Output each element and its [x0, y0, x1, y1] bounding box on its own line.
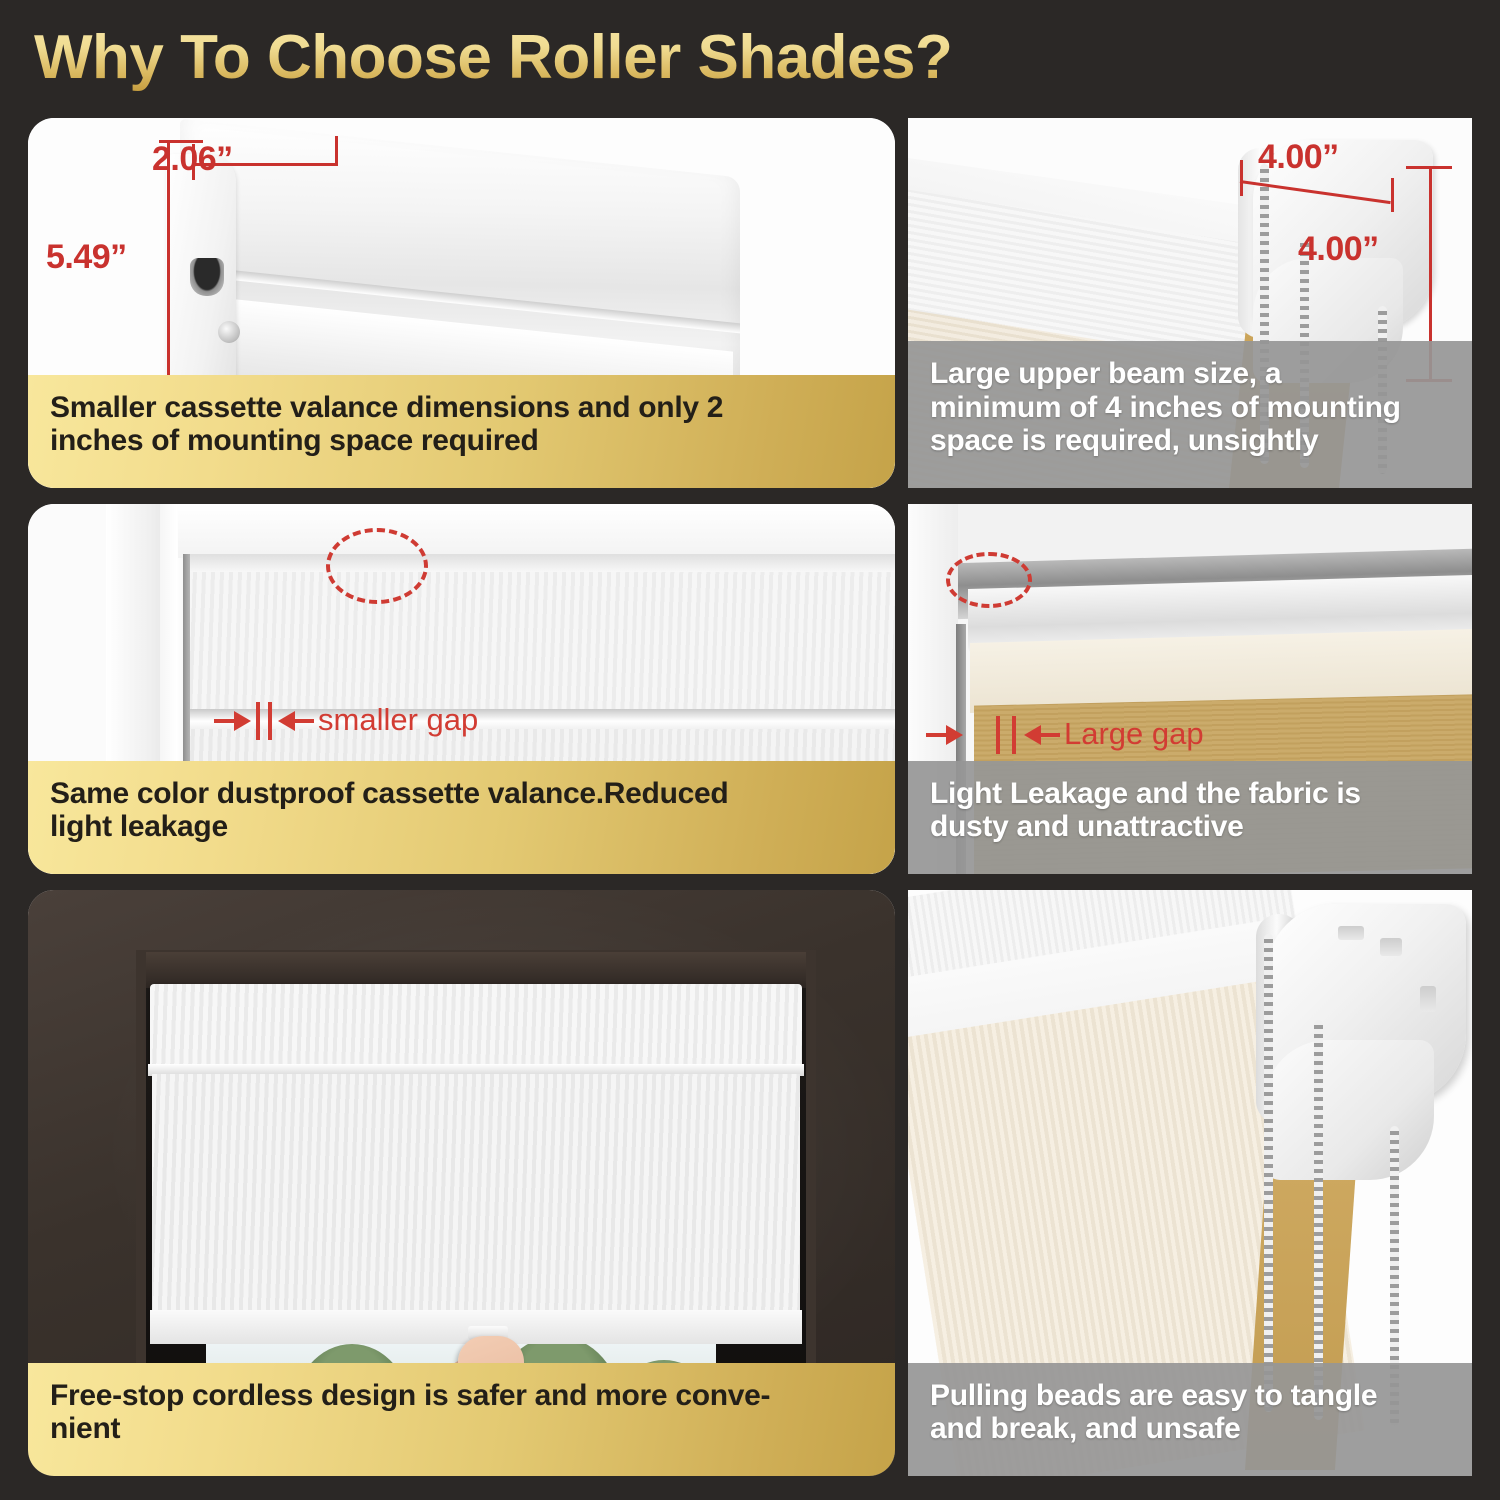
caption-line-1: Same color dustproof cassette valance.Re… — [50, 777, 873, 811]
caption-line-2: nient — [50, 1412, 873, 1446]
page-title: Why To Choose Roller Shades? — [34, 22, 952, 93]
gap-arrow-tail-right — [1040, 733, 1060, 737]
gap-arrow-tail-left — [214, 719, 236, 723]
beam-width-tick-left — [1240, 160, 1243, 196]
height-dimension-tick-top — [159, 140, 203, 143]
beam-width-label: 4.00” — [1258, 138, 1339, 177]
caption-line-1: Free-stop cordless design is safer and m… — [50, 1379, 873, 1413]
caption-line-2: inches of mounting space required — [50, 424, 873, 458]
beam-width-tick-right — [1391, 178, 1394, 212]
bead-chain — [1314, 1020, 1323, 1420]
width-dimension-label: 2.06” — [152, 140, 233, 179]
caption-line-2: light leakage — [50, 810, 873, 844]
caption-line-2: and break, and unsafe — [930, 1412, 1450, 1446]
gap-mark-right — [268, 702, 272, 740]
bead-chain — [1264, 934, 1273, 1412]
caption-dustproof-valance: Same color dustproof cassette valance.Re… — [28, 761, 895, 874]
gap-mark-left — [996, 716, 1000, 754]
comparison-grid: 2.06” 5.49” Smaller cassette valance dim… — [28, 118, 1472, 1476]
gap-callout-label: smaller gap — [318, 702, 478, 738]
caption-line-2: minimum of 4 inches of mounting — [930, 391, 1450, 425]
gap-arrow-tail-right — [294, 719, 314, 723]
gap-arrow-left-icon — [1024, 725, 1041, 745]
caption-light-leakage: Light Leakage and the fabric is dusty an… — [908, 761, 1472, 874]
height-dimension-label: 5.49” — [46, 238, 127, 277]
gap-arrow-left-icon — [278, 711, 295, 731]
width-dimension-tick-right — [335, 136, 338, 166]
caption-line-2: dusty and unattractive — [930, 810, 1450, 844]
gap-mark-left — [256, 702, 260, 740]
panel-pulling-beads: Pulling beads are easy to tangle and bre… — [908, 890, 1472, 1476]
panel-large-upper-beam: 4.00” 4.00” Large upper beam size, a min… — [908, 118, 1472, 488]
gap-callout-label: Large gap — [1064, 716, 1204, 752]
caption-cassette-dimensions: Smaller cassette valance dimensions and … — [28, 375, 895, 488]
beam-height-label: 4.00” — [1298, 230, 1379, 269]
panel-dustproof-valance: smaller gap Same color dustproof cassett… — [28, 504, 895, 874]
height-dimension-line — [167, 140, 170, 412]
panel-light-leakage: Large gap Light Leakage and the fabric i… — [908, 504, 1472, 874]
gap-arrow-tail-left — [926, 733, 948, 737]
caption-line-1: Pulling beads are easy to tangle — [930, 1379, 1450, 1413]
panel-cassette-dimensions: 2.06” 5.49” Smaller cassette valance dim… — [28, 118, 895, 488]
caption-pulling-beads: Pulling beads are easy to tangle and bre… — [908, 1363, 1472, 1476]
panel-cordless-design: Free-stop cordless design is safer and m… — [28, 890, 895, 1476]
beam-height-tick-top — [1406, 166, 1452, 169]
gap-arrow-right-icon — [234, 711, 251, 731]
gap-arrow-right-icon — [946, 725, 963, 745]
highlight-circle-icon — [946, 552, 1032, 608]
caption-line-1: Smaller cassette valance dimensions and … — [50, 391, 873, 425]
gap-mark-right — [1012, 716, 1016, 754]
highlight-circle-icon — [326, 528, 428, 604]
caption-large-upper-beam: Large upper beam size, a minimum of 4 in… — [908, 341, 1472, 488]
caption-line-1: Large upper beam size, a — [930, 357, 1450, 391]
caption-cordless-design: Free-stop cordless design is safer and m… — [28, 1363, 895, 1476]
caption-line-3: space is required, unsightly — [930, 424, 1450, 458]
caption-line-1: Light Leakage and the fabric is — [930, 777, 1450, 811]
